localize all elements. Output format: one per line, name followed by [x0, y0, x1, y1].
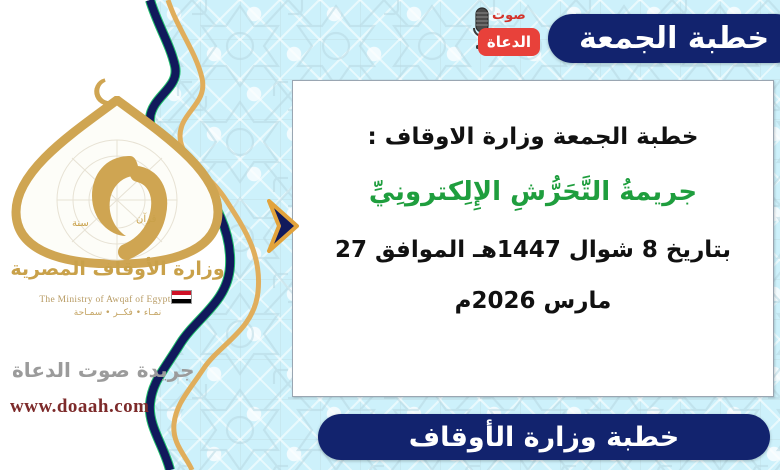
logo-label-sunnah: سنة	[72, 218, 89, 229]
ministry-logo: قرآن سنة وزارة الأوقاف المصرية The Minis…	[10, 78, 225, 328]
badge-word-bottom: الدعاة	[487, 33, 531, 51]
card-date-line-1: بتاريخ 8 شوال 1447هـ الموافق 27	[323, 234, 743, 267]
bottom-banner-khutbat-wizarat-alawqaf: خطبة وزارة الأوقاف	[318, 414, 770, 460]
logo-name-en-text: The Ministry of Awqaf of Egypt	[39, 295, 170, 305]
logo-dome-shape	[10, 96, 225, 268]
watermark-url: www.doaah.com	[10, 396, 150, 418]
badge-word-top: صوت	[492, 8, 526, 23]
card-date-line-2: مارس 2026م	[323, 285, 743, 318]
card-title: جريمةُ التَّحَرُّشِ الإِلِكترونِيِّ	[323, 174, 743, 212]
bottom-banner-label: خطبة وزارة الأوقاف	[409, 422, 680, 453]
poster-canvas: قرآن سنة وزارة الأوقاف المصرية The Minis…	[0, 0, 780, 470]
sawt-alduaah-badge: صوت الدعاة	[466, 2, 542, 60]
logo-slogan: نمـاء • فكــر • سمـاحة	[10, 308, 225, 318]
badge-word-bottom-box: الدعاة	[478, 28, 540, 56]
top-banner-khutbat-aljumuah: خطبة الجمعة	[548, 14, 780, 63]
watermark-newspaper: جريدة صوت الدعاة	[12, 358, 195, 382]
logo-label-quran: قرآن	[136, 214, 156, 225]
card-content: خطبة الجمعة وزارة الاوقاف : جريمةُ التَّ…	[293, 81, 773, 396]
logo-name-en: The Ministry of Awqaf of Egypt	[10, 290, 225, 305]
khutbah-info-card: خطبة الجمعة وزارة الاوقاف : جريمةُ التَّ…	[292, 80, 774, 397]
card-heading: خطبة الجمعة وزارة الاوقاف :	[323, 121, 743, 154]
logo-name-ar: وزارة الأوقاف المصرية	[10, 258, 225, 280]
top-banner-label: خطبة الجمعة	[579, 21, 769, 56]
egypt-flag-icon	[171, 290, 192, 304]
